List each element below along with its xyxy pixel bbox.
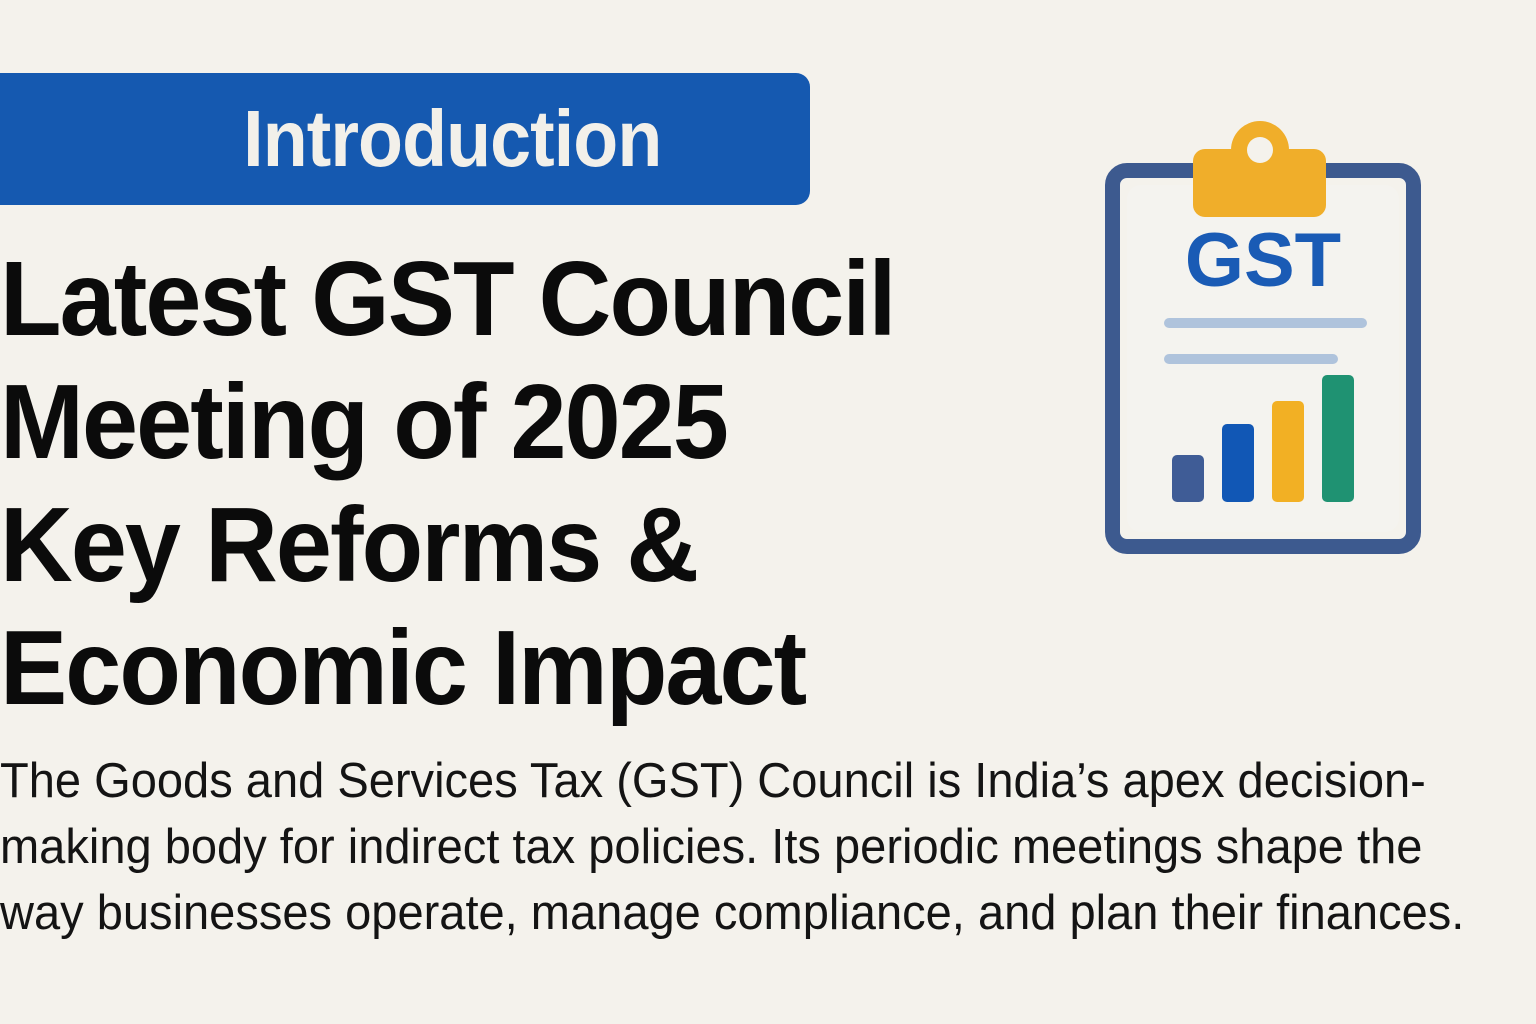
chart-bar-3 xyxy=(1272,401,1304,502)
section-badge-label: Introduction xyxy=(244,99,662,179)
slide-canvas: Introduction Latest GST Council Meeting … xyxy=(0,0,1536,1024)
bar-chart-icon xyxy=(1164,381,1384,502)
chart-bar-4 xyxy=(1322,375,1354,502)
headline-line-4: Economic Impact xyxy=(0,607,988,730)
headline-line-2: Meeting of 2025 xyxy=(0,361,988,484)
headline-line-1: Latest GST Council xyxy=(0,238,988,361)
paragraph-line-1: The Goods and Services Tax (GST) Council… xyxy=(0,748,1411,814)
gst-clipboard-illustration: GST xyxy=(1105,113,1425,558)
chart-bar-2 xyxy=(1222,424,1254,502)
chart-bar-1 xyxy=(1172,455,1204,502)
section-badge: Introduction xyxy=(0,73,810,205)
paragraph-line-2: making body for indirect tax policies. I… xyxy=(0,814,1411,880)
clipboard-title-label: GST xyxy=(1127,223,1399,299)
headline-line-3: Key Reforms & xyxy=(0,484,988,607)
clipboard-clip-hole-icon xyxy=(1247,137,1273,163)
paragraph-line-3: way businesses operate, manage complianc… xyxy=(0,880,1411,946)
body-paragraph: The Goods and Services Tax (GST) Council… xyxy=(0,748,1470,946)
paper-rule-line-2 xyxy=(1164,354,1338,364)
page-title: Latest GST Council Meeting of 2025 Key R… xyxy=(0,238,1040,730)
paper-rule-line-1 xyxy=(1164,318,1367,328)
